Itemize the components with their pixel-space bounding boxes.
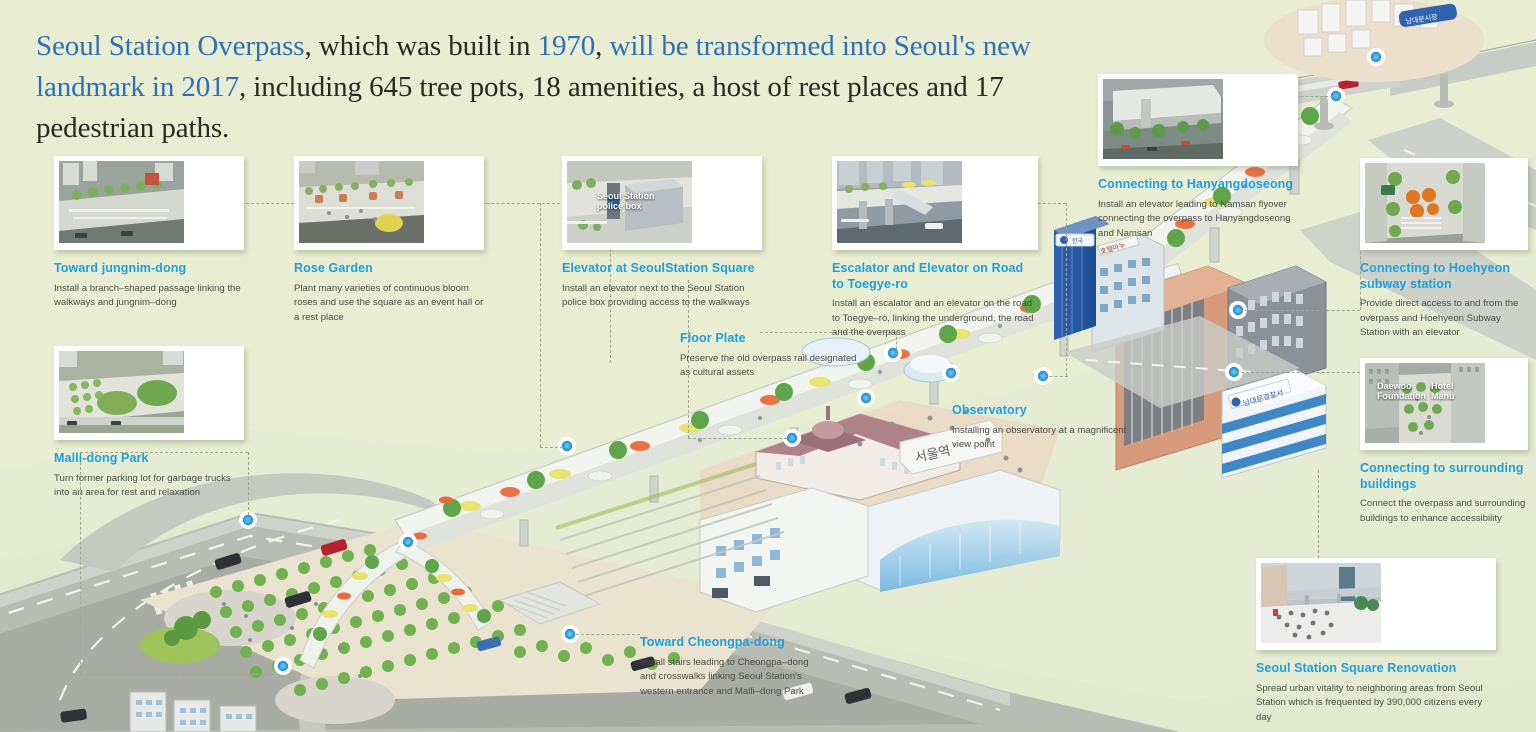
callout-body: Install an elevator next to the Seoul St… bbox=[562, 282, 762, 311]
thumb-art-surrounding bbox=[1365, 363, 1485, 443]
callout-body: Turn former parking lot for garbage truc… bbox=[54, 472, 244, 501]
connector-left-bottom bbox=[80, 674, 280, 675]
thumbnail-rose-garden[interactable] bbox=[294, 156, 484, 250]
thumbnail-seoul-station-square[interactable] bbox=[1256, 558, 1496, 650]
marker-rose-garden[interactable] bbox=[562, 441, 572, 451]
connector-surround bbox=[1236, 372, 1360, 373]
callout-connecting-hoehyeon[interactable]: Connecting to Hoehyeon subway station Pr… bbox=[1360, 158, 1528, 341]
callout-body: Plant many varieties of continuous bloom… bbox=[294, 282, 484, 326]
callout-connecting-hanyangdoseong[interactable]: Connecting to Hanyangdoseong Install an … bbox=[1098, 74, 1298, 241]
thumbnail-elevator-square[interactable]: Seoul Station police box bbox=[562, 156, 762, 250]
marker-observatory[interactable] bbox=[946, 368, 956, 378]
svg-text:한국: 한국 bbox=[1072, 238, 1084, 245]
thumbnail-hoehyeon[interactable] bbox=[1360, 158, 1528, 250]
thumb-art-hoehyeon bbox=[1365, 163, 1485, 243]
thumbnail-overlay-label-left: Daewoo Foundation bbox=[1377, 381, 1419, 402]
thumb-art-square bbox=[1261, 563, 1381, 643]
callout-floor-plate[interactable]: Floor Plate Preserve the old overpass ra… bbox=[680, 320, 860, 381]
callout-malli-dong-park[interactable]: Malli-dong Park Turn former parking lot … bbox=[54, 346, 244, 501]
page-title: Seoul Station Overpass, which was built … bbox=[36, 26, 1096, 150]
thumb-art-hanyang bbox=[1103, 79, 1223, 159]
marker-jungnim-dong[interactable] bbox=[278, 661, 288, 671]
thumbnail-overlay-label-right: Hotel Manu bbox=[1431, 381, 1463, 402]
callout-title: Toward Cheongpa-dong bbox=[640, 635, 820, 651]
thumbnail-toward-jungnim-dong[interactable] bbox=[54, 156, 244, 250]
callout-title: Rose Garden bbox=[294, 261, 484, 277]
infographic-canvas: 서울역 bbox=[0, 0, 1536, 732]
connector-sssr-v bbox=[1318, 470, 1319, 558]
thumb-art-malli bbox=[59, 351, 184, 433]
connector-rose-h2 bbox=[540, 447, 568, 448]
callout-elevator-seoulstation-square[interactable]: Seoul Station police box Elevator at Seo… bbox=[562, 156, 762, 311]
marker-toward-jungnim[interactable] bbox=[403, 537, 413, 547]
callout-toward-jungnim-dong[interactable]: Toward jungnim-dong Install a branch–sha… bbox=[54, 156, 244, 311]
connector-elev-h bbox=[688, 438, 792, 439]
callout-toward-cheongpa-dong[interactable]: Toward Cheongpa-dong Install stairs lead… bbox=[640, 624, 820, 699]
connector-toegye-v bbox=[1066, 203, 1067, 376]
marker-cheongpa-dong[interactable] bbox=[565, 629, 575, 639]
connector-malli-v bbox=[248, 452, 249, 520]
thumbnail-malli-dong-park[interactable] bbox=[54, 346, 244, 440]
callout-body: Provide direct access to and from the ov… bbox=[1360, 297, 1528, 341]
thumb-art-jungnim bbox=[59, 161, 184, 243]
callout-rose-garden[interactable]: Rose Garden Plant many varieties of cont… bbox=[294, 156, 484, 325]
callout-body: Connect the overpass and surrounding bui… bbox=[1360, 497, 1528, 526]
callout-title: Elevator at SeoulStation Square bbox=[562, 261, 762, 277]
headline-seg-2: 1970 bbox=[538, 30, 596, 62]
callout-observatory[interactable]: Observatory Installing an observatory at… bbox=[952, 392, 1128, 453]
callout-body: Install stairs leading to Cheongpa–dong … bbox=[640, 656, 820, 700]
callout-title: Escalator and Elevator on Road to Toegye… bbox=[832, 261, 1038, 292]
callout-escalator-toegye-ro[interactable]: Escalator and Elevator on Road to Toegye… bbox=[832, 156, 1038, 341]
headline-seg-0: Seoul Station Overpass bbox=[36, 30, 304, 62]
headline-seg-3: , bbox=[595, 30, 609, 62]
callout-body: Install an escalator and an elevator on … bbox=[832, 297, 1038, 341]
callout-title: Malli-dong Park bbox=[54, 451, 244, 467]
connector-toegye-h2 bbox=[1044, 376, 1068, 377]
connector-cheongpa bbox=[576, 634, 640, 635]
callout-title: Connecting to Hoehyeon subway station bbox=[1360, 261, 1528, 292]
thumbnail-overlay-label: Seoul Station police box bbox=[597, 191, 657, 212]
distant-city-block: 남대문시장 bbox=[1264, 0, 1484, 82]
callout-title: Connecting to Hanyangdoseong bbox=[1098, 177, 1298, 193]
connector-rose-v bbox=[540, 203, 541, 447]
callout-body: Installing an observatory at a magnifice… bbox=[952, 424, 1128, 453]
callout-connecting-surrounding-buildings[interactable]: Daewoo Foundation Hotel Manu Connecting … bbox=[1360, 358, 1528, 526]
callout-title: Floor Plate bbox=[680, 331, 860, 347]
marker-seoul-station-square[interactable] bbox=[861, 393, 871, 403]
callout-body: Preserve the old overpass rail designate… bbox=[680, 352, 860, 381]
connector-hoehyeon bbox=[1240, 310, 1360, 311]
callout-title: Seoul Station Square Renovation bbox=[1256, 661, 1496, 677]
thumb-art-escalator bbox=[837, 161, 962, 243]
thumbnail-hanyangdoseong[interactable] bbox=[1098, 74, 1298, 166]
headline-seg-1: , which was built in bbox=[304, 30, 537, 62]
thumbnail-surrounding-buildings[interactable]: Daewoo Foundation Hotel Manu bbox=[1360, 358, 1528, 450]
thumb-art-rose bbox=[299, 161, 424, 243]
callout-title: Connecting to surrounding buildings bbox=[1360, 461, 1528, 492]
callout-body: Spread urban vitality to neighboring are… bbox=[1256, 682, 1492, 726]
callout-body: Install a branch–shaped passage linking … bbox=[54, 282, 244, 311]
callout-title: Observatory bbox=[952, 403, 1128, 419]
marker-namsan-flyover[interactable] bbox=[1371, 52, 1381, 62]
callout-seoul-station-square-renovation[interactable]: Seoul Station Square Renovation Spread u… bbox=[1256, 558, 1496, 725]
callout-title: Toward jungnim-dong bbox=[54, 261, 244, 277]
callout-body: Install an elevator leading to Namsan fl… bbox=[1098, 198, 1298, 242]
thumbnail-escalator-toegye[interactable] bbox=[832, 156, 1038, 250]
